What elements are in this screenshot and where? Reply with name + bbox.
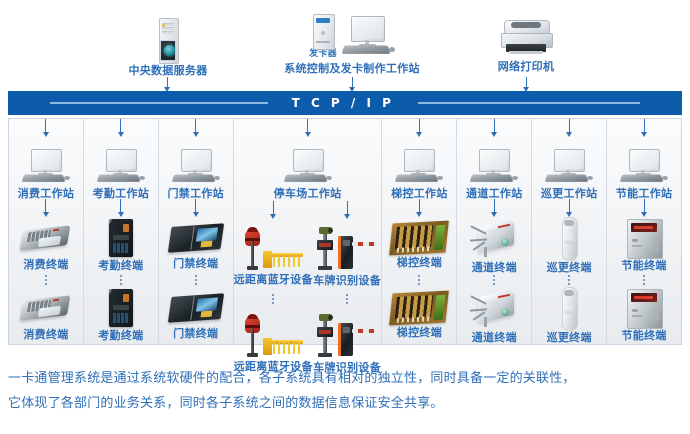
terminal-label: 梯控终端 — [397, 326, 442, 339]
workstation-to-terminal-connector — [313, 199, 382, 221]
tcpip-backbone-bar: T C P / I P — [8, 91, 682, 115]
parking-subcolumn-plate[interactable]: 车牌识别设备 车牌识别设备 — [313, 199, 382, 379]
column-access-control[interactable]: 门禁工作站 门禁终端 门禁终端 — [159, 119, 234, 344]
terminal-label: 通道终端 — [472, 261, 517, 274]
workstation-cell[interactable]: 通道工作站 — [457, 137, 531, 199]
workstation-cell[interactable]: 巡更工作站 — [532, 137, 606, 199]
terminal-cell[interactable]: 通道终端 — [457, 287, 531, 344]
caption-line-2: 它体现了各部门的业务关系，同时各子系统之间的数据信息保证安全共享。 — [8, 391, 680, 416]
ellipsis-separator — [120, 273, 122, 286]
backbone-drop-connector — [382, 119, 456, 137]
backbone-drop-connector — [607, 119, 681, 137]
workstation-cell[interactable]: 消费工作站 — [9, 137, 83, 199]
terminal-cell[interactable]: 节能终端 — [607, 217, 681, 273]
parking-device-pair: 远距离蓝牙设备 远距离蓝牙设备 — [234, 199, 382, 379]
pos-terminal-icon — [20, 290, 72, 326]
terminal-cell[interactable]: 梯控终端 — [382, 286, 456, 344]
elevator-board-icon — [391, 222, 447, 254]
workstation-icon — [395, 149, 443, 185]
top-devices-row: 中央数据服务器 发卡器 系统控制及发卡制作工作站 — [0, 0, 690, 88]
workstation-icon — [284, 149, 332, 185]
backbone-drop-connector — [532, 119, 606, 137]
workstation-label: 停车场工作站 — [274, 187, 342, 200]
workstation-to-terminal-connector — [382, 199, 456, 217]
card-dispenser-label: 发卡器 — [309, 49, 337, 60]
backbone-line-right — [418, 102, 640, 104]
top-node-label: 网络打印机 — [498, 60, 555, 73]
terminal-label: 通道终端 — [472, 331, 517, 344]
terminal-cell[interactable]: 消费终端 — [9, 286, 83, 344]
backbone-label: T C P / I P — [292, 96, 395, 110]
workstation-cell[interactable]: 停车场工作站 — [234, 137, 382, 199]
energy-meter-icon — [627, 219, 661, 257]
terminal-label: 节能终端 — [621, 329, 666, 342]
top-node-label: 中央数据服务器 — [128, 64, 207, 77]
subsystem-columns-panel: 消费工作站 消费终端 消费终端 — [8, 118, 682, 345]
column-channel[interactable]: 通道工作站 通道终端 通道终端 — [457, 119, 532, 344]
terminal-label: 节能终端 — [621, 259, 666, 272]
workstation-to-terminal-connector — [457, 199, 531, 217]
terminal-label: 巡更终端 — [547, 261, 592, 274]
column-patrol[interactable]: 巡更工作站 巡更终端 巡更终端 — [532, 119, 607, 344]
card-dispenser-icon — [313, 14, 333, 48]
terminal-cell[interactable]: 节能终端 — [607, 286, 681, 344]
terminal-label: 巡更终端 — [547, 331, 592, 344]
terminal-cell[interactable]: 门禁终端 — [159, 217, 233, 273]
column-parking[interactable]: 停车场工作站 远距离蓝牙设备 远 — [234, 119, 383, 344]
diagram-canvas: 中央数据服务器 发卡器 系统控制及发卡制作工作站 — [0, 0, 690, 434]
ellipsis-separator — [643, 273, 645, 286]
workstation-label: 巡更工作站 — [541, 187, 598, 200]
workstation-label: 节能工作站 — [616, 187, 673, 200]
patrol-terminal-icon — [560, 287, 578, 329]
top-node-label: 系统控制及发卡制作工作站 — [284, 62, 420, 75]
terminal-cell[interactable]: 考勤终端 — [84, 286, 158, 344]
terminal-cell[interactable]: 消费终端 — [9, 217, 83, 273]
column-attendance[interactable]: 考勤工作站 考勤终端 考勤终端 — [84, 119, 159, 344]
column-consumption[interactable]: 消费工作站 消费终端 消费终端 — [9, 119, 84, 344]
backbone-drop-connector — [9, 119, 83, 137]
ellipsis-separator — [568, 274, 570, 287]
terminal-cell[interactable]: 梯控终端 — [382, 217, 456, 273]
turnstile-icon — [468, 287, 520, 329]
ellipsis-separator — [346, 291, 348, 307]
workstation-to-terminal-connector — [607, 199, 681, 217]
terminal-label: 车牌识别设备 — [313, 274, 381, 287]
workstation-label: 考勤工作站 — [93, 187, 150, 200]
turnstile-icon — [468, 217, 520, 259]
workstation-icon — [97, 149, 145, 185]
energy-meter-icon — [627, 289, 661, 327]
patrol-terminal-icon — [560, 217, 578, 259]
workstation-icon — [172, 149, 220, 185]
plate-recognition-icon — [316, 226, 378, 272]
column-energy[interactable]: 节能工作站 节能终端 节能终端 — [607, 119, 681, 344]
description-caption: 一卡通管理系统是通过系统软硬件的配合，各子系统具有相对的独立性，同时具备一定的关… — [8, 366, 680, 416]
ellipsis-separator — [418, 273, 420, 286]
workstation-cell[interactable]: 梯控工作站 — [382, 137, 456, 199]
elevator-board-icon — [391, 292, 447, 324]
ellipsis-separator — [272, 291, 274, 307]
terminal-cell[interactable]: 巡更终端 — [532, 287, 606, 344]
workstation-cell[interactable]: 门禁工作站 — [159, 137, 233, 199]
caption-line-1: 一卡通管理系统是通过系统软硬件的配合，各子系统具有相对的独立性，同时具备一定的关… — [8, 366, 680, 391]
terminal-cell[interactable]: 远距离蓝牙设备 — [234, 221, 313, 291]
workstation-cell[interactable]: 节能工作站 — [607, 137, 681, 199]
backbone-drop-connector — [159, 119, 233, 137]
terminal-label: 消费终端 — [23, 328, 68, 341]
terminal-label: 门禁终端 — [173, 257, 218, 270]
ellipsis-separator — [195, 273, 197, 286]
bluetooth-device-icon — [242, 227, 304, 271]
attendance-terminal-icon — [109, 289, 133, 327]
terminal-cell[interactable]: 考勤终端 — [84, 217, 158, 273]
terminal-label: 门禁终端 — [173, 327, 218, 340]
pos-terminal-icon — [20, 220, 72, 256]
workstation-label: 梯控工作站 — [391, 187, 448, 200]
top-node-server[interactable]: 中央数据服务器 — [120, 18, 216, 77]
backbone-drop-connector — [84, 119, 158, 137]
access-terminal-icon — [168, 291, 224, 325]
attendance-terminal-icon — [109, 219, 133, 257]
terminal-cell[interactable]: 巡更终端 — [532, 217, 606, 274]
column-elevator[interactable]: 梯控工作站 梯控终端 梯控终端 — [382, 119, 457, 344]
workstation-icon — [545, 149, 593, 185]
backbone-drop-connector — [234, 119, 382, 137]
workstation-to-terminal-connector — [234, 199, 313, 221]
workstation-icon — [22, 149, 70, 185]
workstation-to-terminal-connector — [159, 199, 233, 217]
top-node-card-workstation[interactable]: 发卡器 系统控制及发卡制作工作站 — [276, 14, 428, 75]
terminal-label: 远距离蓝牙设备 — [234, 273, 313, 286]
workstation-to-terminal-connector — [532, 199, 606, 217]
ellipsis-separator — [493, 274, 495, 287]
terminal-label: 消费终端 — [23, 258, 68, 271]
workstation-icon — [341, 16, 395, 56]
workstation-label: 门禁工作站 — [167, 187, 224, 200]
workstation-label: 通道工作站 — [466, 187, 523, 200]
terminal-cell[interactable]: 通道终端 — [457, 217, 531, 274]
access-terminal-icon — [168, 221, 224, 255]
terminal-cell[interactable]: 车牌识别设备 — [313, 221, 382, 291]
terminal-label: 考勤终端 — [98, 259, 143, 272]
workstation-icon — [470, 149, 518, 185]
bluetooth-device-icon — [242, 314, 304, 358]
parking-subcolumn-bluetooth[interactable]: 远距离蓝牙设备 远距离蓝牙设备 — [234, 199, 313, 379]
terminal-label: 梯控终端 — [397, 256, 442, 269]
workstation-to-terminal-connector — [84, 199, 158, 217]
server-icon — [155, 18, 181, 62]
printer-icon — [498, 18, 554, 58]
terminal-cell[interactable]: 门禁终端 — [159, 286, 233, 344]
backbone-drop-connector — [457, 119, 531, 137]
workstation-label: 消费工作站 — [18, 187, 75, 200]
top-node-printer[interactable]: 网络打印机 — [478, 18, 574, 73]
plate-recognition-icon — [316, 313, 378, 359]
ellipsis-separator — [45, 273, 47, 286]
backbone-line-left — [50, 102, 268, 104]
workstation-to-terminal-connector — [9, 199, 83, 217]
workstation-icon — [620, 149, 668, 185]
terminal-label: 考勤终端 — [98, 329, 143, 342]
workstation-cell[interactable]: 考勤工作站 — [84, 137, 158, 199]
